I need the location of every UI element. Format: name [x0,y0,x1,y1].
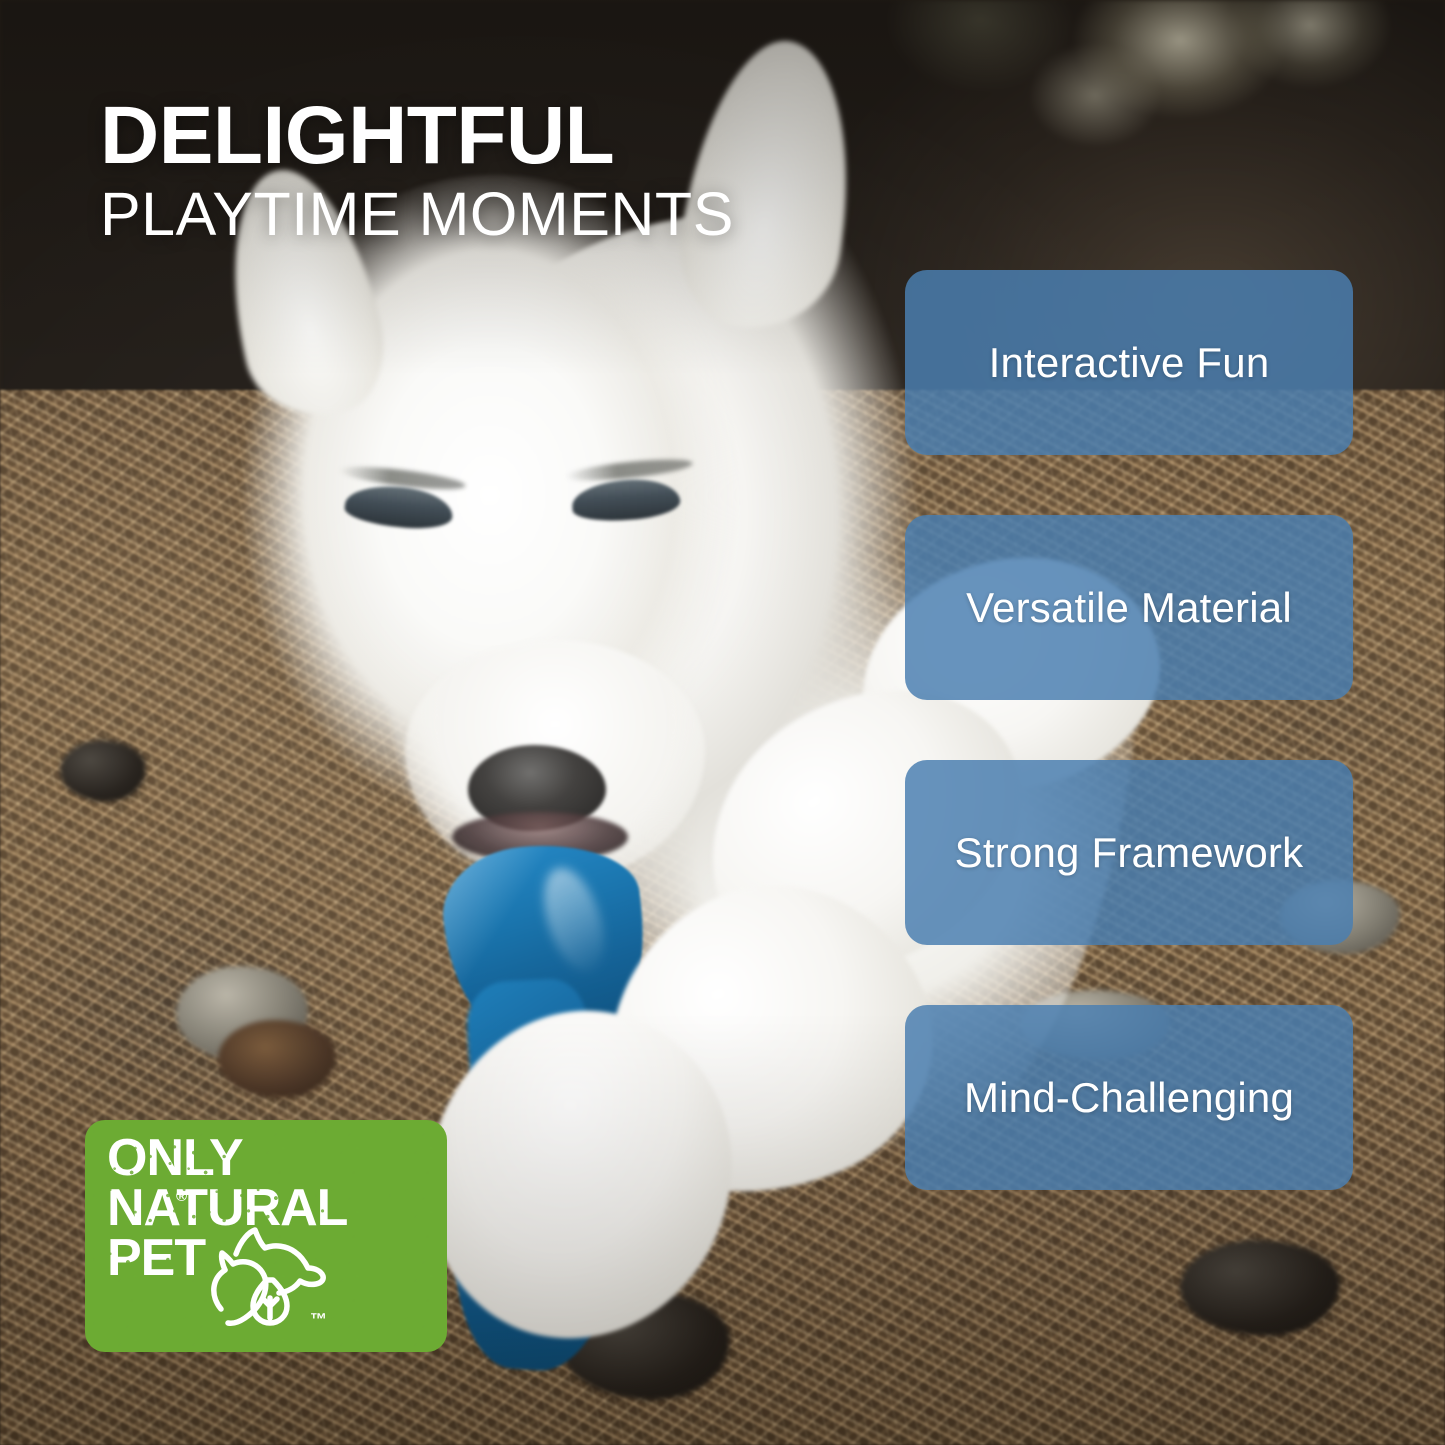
pinecone [218,1020,336,1098]
feature-badge[interactable]: Interactive Fun [905,270,1353,455]
registered-mark: ® [176,1188,187,1205]
brand-logo-line-1: ONLY [107,1134,367,1184]
headline-secondary: PLAYTIME MOMENTS [100,184,734,245]
feature-badge-label: Interactive Fun [989,339,1270,387]
feature-badge[interactable]: Strong Framework [905,760,1353,945]
feature-badge[interactable]: Versatile Material [905,515,1353,700]
feature-badge-label: Mind-Challenging [964,1074,1294,1122]
headline: DELIGHTFUL PLAYTIME MOMENTS [100,96,734,245]
dog-cat-leaf-line-art-icon [195,1218,345,1348]
feature-badge-label: Versatile Material [966,584,1292,632]
headline-primary: DELIGHTFUL [100,96,734,176]
product-feature-poster: DELIGHTFUL PLAYTIME MOMENTS Interactive … [0,0,1445,1445]
feature-badge-label: Strong Framework [955,829,1304,877]
feature-badge[interactable]: Mind-Challenging [905,1005,1353,1190]
pinecone [60,740,146,802]
feature-badge-list: Interactive Fun Versatile Material Stron… [905,270,1353,1190]
